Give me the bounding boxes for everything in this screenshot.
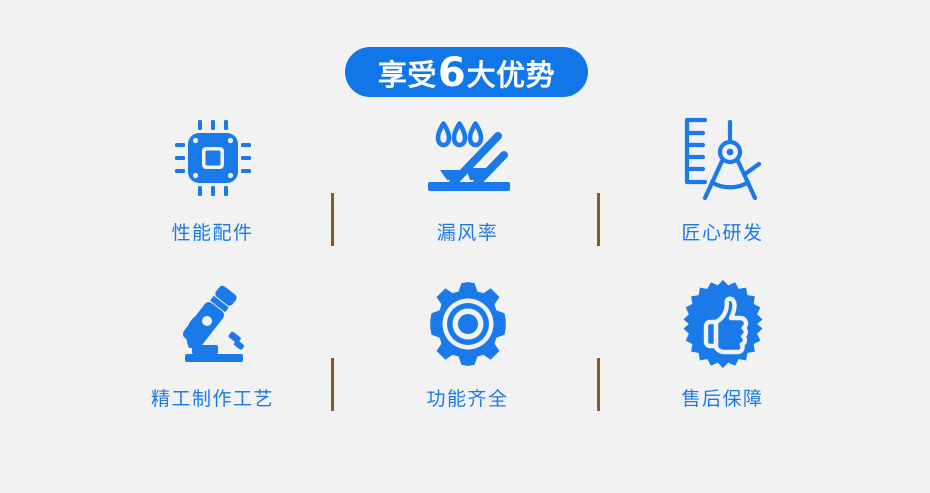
feature-grid: 性能配件 (0, 112, 930, 444)
feature-label: 功能齐全 (426, 384, 508, 411)
feature-label: 售后保障 (681, 384, 763, 411)
feature-row-1: 性能配件 (0, 112, 930, 278)
banner-suffix: 大优势 (467, 61, 556, 90)
banner-number: 6 (437, 53, 467, 93)
thumbs-up-badge-icon (673, 278, 773, 370)
feature-label: 漏风率 (437, 218, 499, 245)
feature-item-rnd: 匠心研发 (595, 112, 850, 245)
feature-item-full-function: 功能齐全 (340, 278, 595, 411)
ruler-compass-icon (673, 112, 773, 204)
divider-row2-left (331, 358, 334, 411)
gear-icon (418, 278, 518, 370)
feature-item-manufacturing: 精工制作工艺 (85, 278, 340, 411)
promo-feature-page: 享受 6 大优势 (0, 0, 930, 493)
cpu-chip-icon (163, 112, 263, 204)
water-droplet-repel-icon (418, 112, 518, 204)
microscope-icon (163, 278, 263, 370)
banner-prefix: 享受 (378, 61, 437, 90)
feature-item-air-leakage: 漏风率 (340, 112, 595, 245)
feature-item-after-sales: 售后保障 (595, 278, 850, 411)
divider-row2-right (597, 358, 600, 411)
banner-pill: 享受 6 大优势 (345, 47, 588, 97)
banner-text: 享受 6 大优势 (378, 52, 555, 92)
feature-label: 精工制作工艺 (151, 384, 274, 411)
divider-row1-left (331, 193, 334, 246)
divider-row1-right (597, 193, 600, 246)
feature-row-2: 精工制作工艺 功能齐全 (0, 278, 930, 444)
feature-label: 匠心研发 (681, 218, 763, 245)
feature-item-performance-parts: 性能配件 (85, 112, 340, 245)
feature-label: 性能配件 (171, 218, 253, 245)
